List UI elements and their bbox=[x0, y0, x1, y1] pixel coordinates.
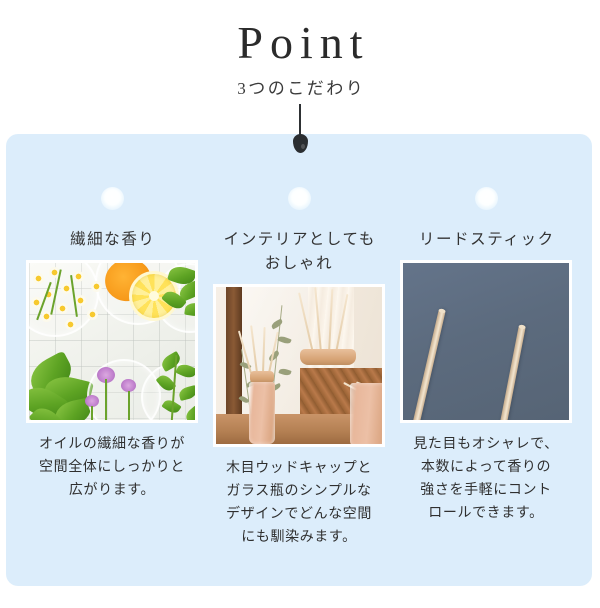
page-subtitle: 3つのこだわり bbox=[0, 68, 600, 100]
feature-column-1: 繊細な香り bbox=[19, 134, 205, 586]
oil-drop-icon bbox=[292, 104, 308, 156]
feature-columns: 繊細な香り bbox=[6, 134, 592, 586]
bullet-dot-icon bbox=[288, 187, 311, 210]
feature-column-3: リードスティック 見た目もオシャレで、 本数によって香りの 強さを手軽にコント … bbox=[393, 134, 579, 586]
feature-caption-1: オイルの繊細な香りが 空間全体にしっかりと 広がります。 bbox=[39, 433, 185, 502]
feature-caption-3: 見た目もオシャレで、 本数によって香りの 強さを手軽にコント ロールできます。 bbox=[413, 433, 558, 525]
feature-column-2: インテリアとしても おしゃれ bbox=[206, 134, 392, 586]
feature-photo-1 bbox=[26, 260, 198, 423]
header: Point 3つのこだわり bbox=[0, 0, 600, 100]
feature-photo-3 bbox=[400, 260, 572, 423]
feature-heading-2: インテリアとしても おしゃれ bbox=[222, 228, 376, 276]
feature-photo-2 bbox=[213, 284, 385, 447]
bullet-dot-icon bbox=[101, 187, 124, 210]
feature-heading-3: リードスティック bbox=[417, 228, 554, 252]
drop-bulb bbox=[293, 134, 308, 153]
point-feature-panel: Point 3つのこだわり 繊細な香り bbox=[0, 0, 600, 608]
feature-caption-2: 木目ウッドキャップと ガラス瓶のシンプルな デザインでどんな空間 にも馴染みます… bbox=[226, 457, 372, 549]
bullet-dot-icon bbox=[475, 187, 498, 210]
feature-heading-1: 繊細な香り bbox=[68, 228, 155, 252]
page-title: Point bbox=[0, 0, 600, 68]
